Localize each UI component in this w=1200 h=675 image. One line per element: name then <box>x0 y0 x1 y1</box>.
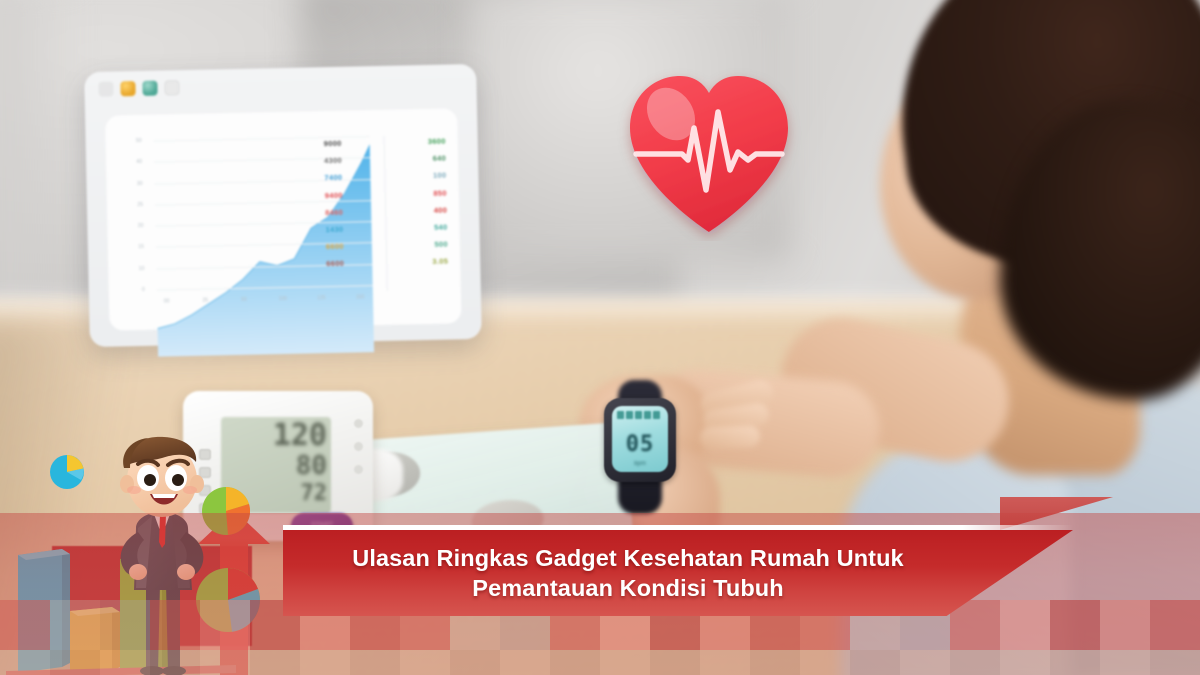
chart-ytick-label: 20 <box>115 223 143 230</box>
chart-value-table: 9000360043006407400100940085084604001430… <box>324 137 449 277</box>
smart-watch: 05 bpm <box>596 386 686 506</box>
watch-value: 05 <box>612 432 668 457</box>
mascot-hand-left <box>129 564 147 580</box>
chart-window[interactable]: 504030252015100002550100125150 900036004… <box>84 64 482 347</box>
bpm-indicator-2 <box>354 442 363 451</box>
watch-heart-icon <box>635 411 642 419</box>
pie-small-svg <box>50 455 84 489</box>
chart-value-row: 1430540 <box>325 222 447 234</box>
chart-value-right: 500 <box>434 240 448 249</box>
chart-xtick-label: 25 <box>202 298 208 304</box>
heart-rate-icon <box>614 66 804 241</box>
pie-small <box>50 455 84 489</box>
chart-value-left: 6600 <box>326 242 344 251</box>
chart-value-right: 3600 <box>428 137 446 146</box>
chart-value-right: 640 <box>433 154 447 163</box>
mascot-teeth <box>152 494 176 498</box>
page-title: Ulasan Ringkas Gadget Kesehatan Rumah Un… <box>283 530 973 616</box>
thumbnail-canvas: 120 80 72 START <box>0 0 1200 675</box>
window-button-ghost[interactable] <box>98 81 113 96</box>
chart-xtick-label: 50 <box>241 297 247 303</box>
chart-ytick-label: 30 <box>114 181 142 188</box>
bpm-indicator-3 <box>354 465 363 474</box>
mascot-shoe-left <box>140 666 164 675</box>
bar-cyan-side <box>62 549 70 667</box>
watch-status-icons <box>617 410 664 420</box>
watch-battery-icon <box>617 411 624 419</box>
chart-ytick-label: 10 <box>116 266 144 273</box>
window-button-yellow[interactable] <box>120 81 135 96</box>
window-button-green[interactable] <box>142 80 157 95</box>
bpm-systolic-value: 120 <box>221 421 327 451</box>
chart-value-left: 1430 <box>325 225 343 234</box>
chart-ytick-label: 25 <box>115 202 143 209</box>
chart-value-row: 9400850 <box>325 188 447 200</box>
watch-screen[interactable]: 05 bpm <box>612 406 668 472</box>
chart-card: 504030252015100002550100125150 900036004… <box>105 108 461 330</box>
mascot-blush-left <box>127 486 141 494</box>
chart-xtick-label: 00 <box>164 298 170 304</box>
window-title-bar <box>84 64 477 106</box>
watch-unit-label: bpm <box>612 461 668 467</box>
chart-value-left: 9000 <box>324 139 342 148</box>
mascot-shoe-right <box>162 666 186 675</box>
chart-value-left: 8460 <box>325 207 343 216</box>
chart-ytick-label: 0 <box>117 287 145 294</box>
chart-ytick-label: 50 <box>114 138 142 145</box>
bpm-diastolic-value: 80 <box>221 451 327 481</box>
mascot-pupil-left <box>144 474 156 486</box>
bar-cyan-front <box>18 549 62 673</box>
window-button-white[interactable] <box>164 80 179 95</box>
mascot-tie <box>159 514 166 548</box>
mascot-businessman <box>96 432 226 675</box>
bpm-indicator-lights <box>354 419 363 474</box>
mascot-svg <box>96 432 226 675</box>
chart-value-row: 7400100 <box>324 171 446 183</box>
chart-value-right: 400 <box>434 205 448 214</box>
mascot-pupil-right <box>172 474 184 486</box>
chart-ytick-label: 40 <box>114 159 142 166</box>
chart-xtick-label: 100 <box>278 296 286 302</box>
chart-value-right: 850 <box>433 188 447 197</box>
chart-value-left: 6600 <box>326 259 344 268</box>
chart-value-right: 100 <box>433 171 447 180</box>
chart-value-row: 8460400 <box>325 205 447 217</box>
mascot-leg-right <box>166 582 180 672</box>
bpm-indicator-1 <box>354 419 363 428</box>
chart-value-left: 7400 <box>324 173 342 182</box>
chart-value-row: 6600500 <box>326 240 448 252</box>
mascot-hand-right <box>177 564 195 580</box>
watch-steps-icon <box>644 411 651 419</box>
chart-value-left: 9400 <box>325 190 343 199</box>
chart-value-right: 3.05 <box>432 257 448 266</box>
heart-rate-svg <box>614 66 804 241</box>
woman-finger-3 <box>700 425 761 449</box>
chart-ytick-label: 15 <box>116 244 144 251</box>
chart-value-left: 4300 <box>324 156 342 165</box>
mascot-blush-right <box>183 486 197 494</box>
chart-xtick-label: 150 <box>356 294 364 300</box>
watch-signal-icon <box>626 411 633 419</box>
chart-xtick-label: 125 <box>317 295 325 301</box>
chart-value-row: 66003.05 <box>326 257 448 269</box>
chart-value-row: 4300640 <box>324 154 446 166</box>
mascot-leg-left <box>146 582 160 672</box>
background-left-object <box>0 0 80 320</box>
watch-clock-icon <box>653 411 660 419</box>
chart-value-row: 90003600 <box>324 137 446 149</box>
chart-value-right: 540 <box>434 222 448 231</box>
